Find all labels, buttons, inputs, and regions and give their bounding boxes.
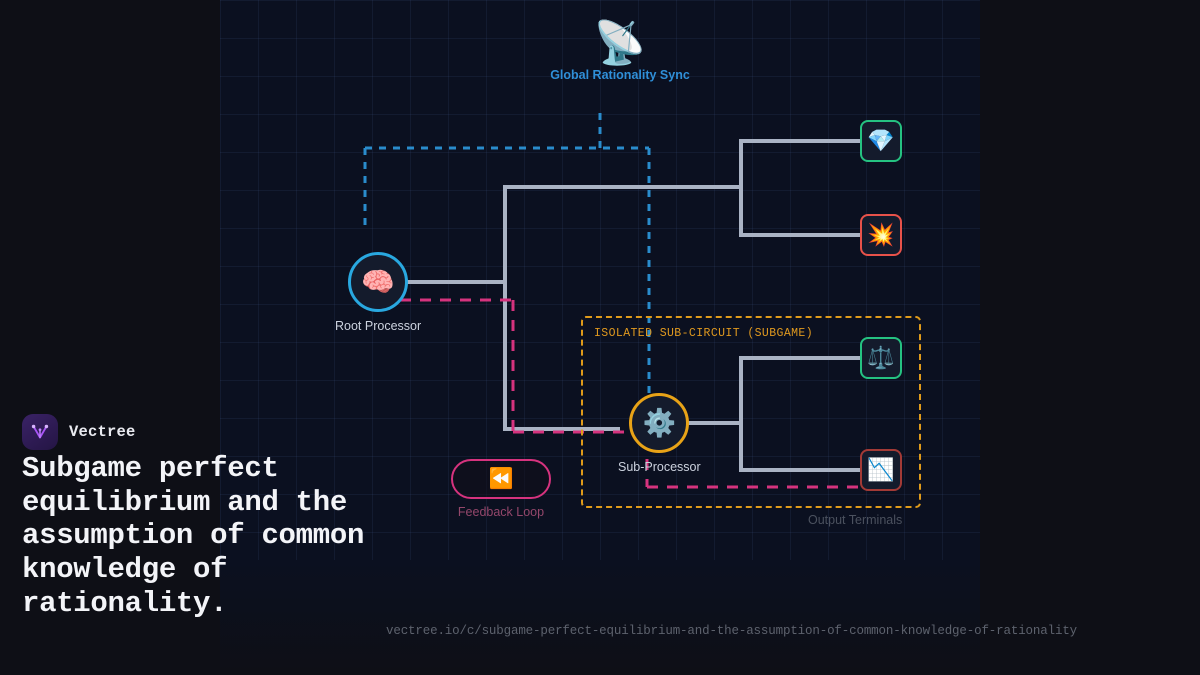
gem-icon: 💎	[867, 130, 894, 152]
poster-root: ISOLATED SUB-CIRCUIT (SUBGAME) 📡 Global …	[0, 0, 1200, 675]
satellite-dish-icon: 📡	[594, 22, 646, 64]
balance-scale-icon: ⚖️	[867, 347, 894, 369]
global-sync-label: Global Rationality Sync	[550, 68, 690, 82]
page-title: Subgame perfect equilibrium and the assu…	[22, 452, 370, 620]
terminal-scales-box[interactable]: ⚖️	[860, 337, 902, 379]
output-terminals-caption: Output Terminals	[808, 513, 902, 527]
sub-processor-label: Sub-Processor	[618, 460, 701, 474]
collision-icon: 💥	[867, 224, 894, 246]
brand-lockup: Vectree	[22, 414, 136, 450]
chart-decreasing-icon: 📉	[867, 459, 894, 481]
root-processor-label: Root Processor	[335, 319, 421, 333]
terminal-scales[interactable]: ⚖️	[860, 337, 902, 379]
global-sync-node: 📡 Global Rationality Sync	[558, 22, 682, 82]
feedback-loop-label: Feedback Loop	[458, 505, 544, 519]
footer-url: vectree.io/c/subgame-perfect-equilibrium…	[386, 624, 1077, 638]
node-root-processor[interactable]: 🧠 Root Processor	[335, 252, 421, 333]
sub-processor-circle[interactable]: ⚙️	[629, 393, 689, 453]
node-sub-processor[interactable]: ⚙️ Sub-Processor	[618, 393, 701, 474]
brand-name: Vectree	[69, 423, 136, 441]
subgame-title: ISOLATED SUB-CIRCUIT (SUBGAME)	[594, 327, 813, 340]
terminal-collision-box[interactable]: 💥	[860, 214, 902, 256]
vector-tree-icon	[22, 414, 58, 450]
terminal-chartdown[interactable]: 📉	[860, 449, 902, 491]
terminal-collision[interactable]: 💥	[860, 214, 902, 256]
rewind-icon: ⏪	[489, 469, 514, 489]
root-processor-circle[interactable]: 🧠	[348, 252, 408, 312]
feedback-loop-node[interactable]: ⏪ Feedback Loop	[451, 459, 551, 519]
feedback-loop-pill[interactable]: ⏪	[451, 459, 551, 499]
terminal-chartdown-box[interactable]: 📉	[860, 449, 902, 491]
terminal-gem[interactable]: 💎	[860, 120, 902, 162]
terminal-gem-box[interactable]: 💎	[860, 120, 902, 162]
brain-icon: 🧠	[361, 269, 395, 296]
gear-icon: ⚙️	[643, 410, 677, 437]
